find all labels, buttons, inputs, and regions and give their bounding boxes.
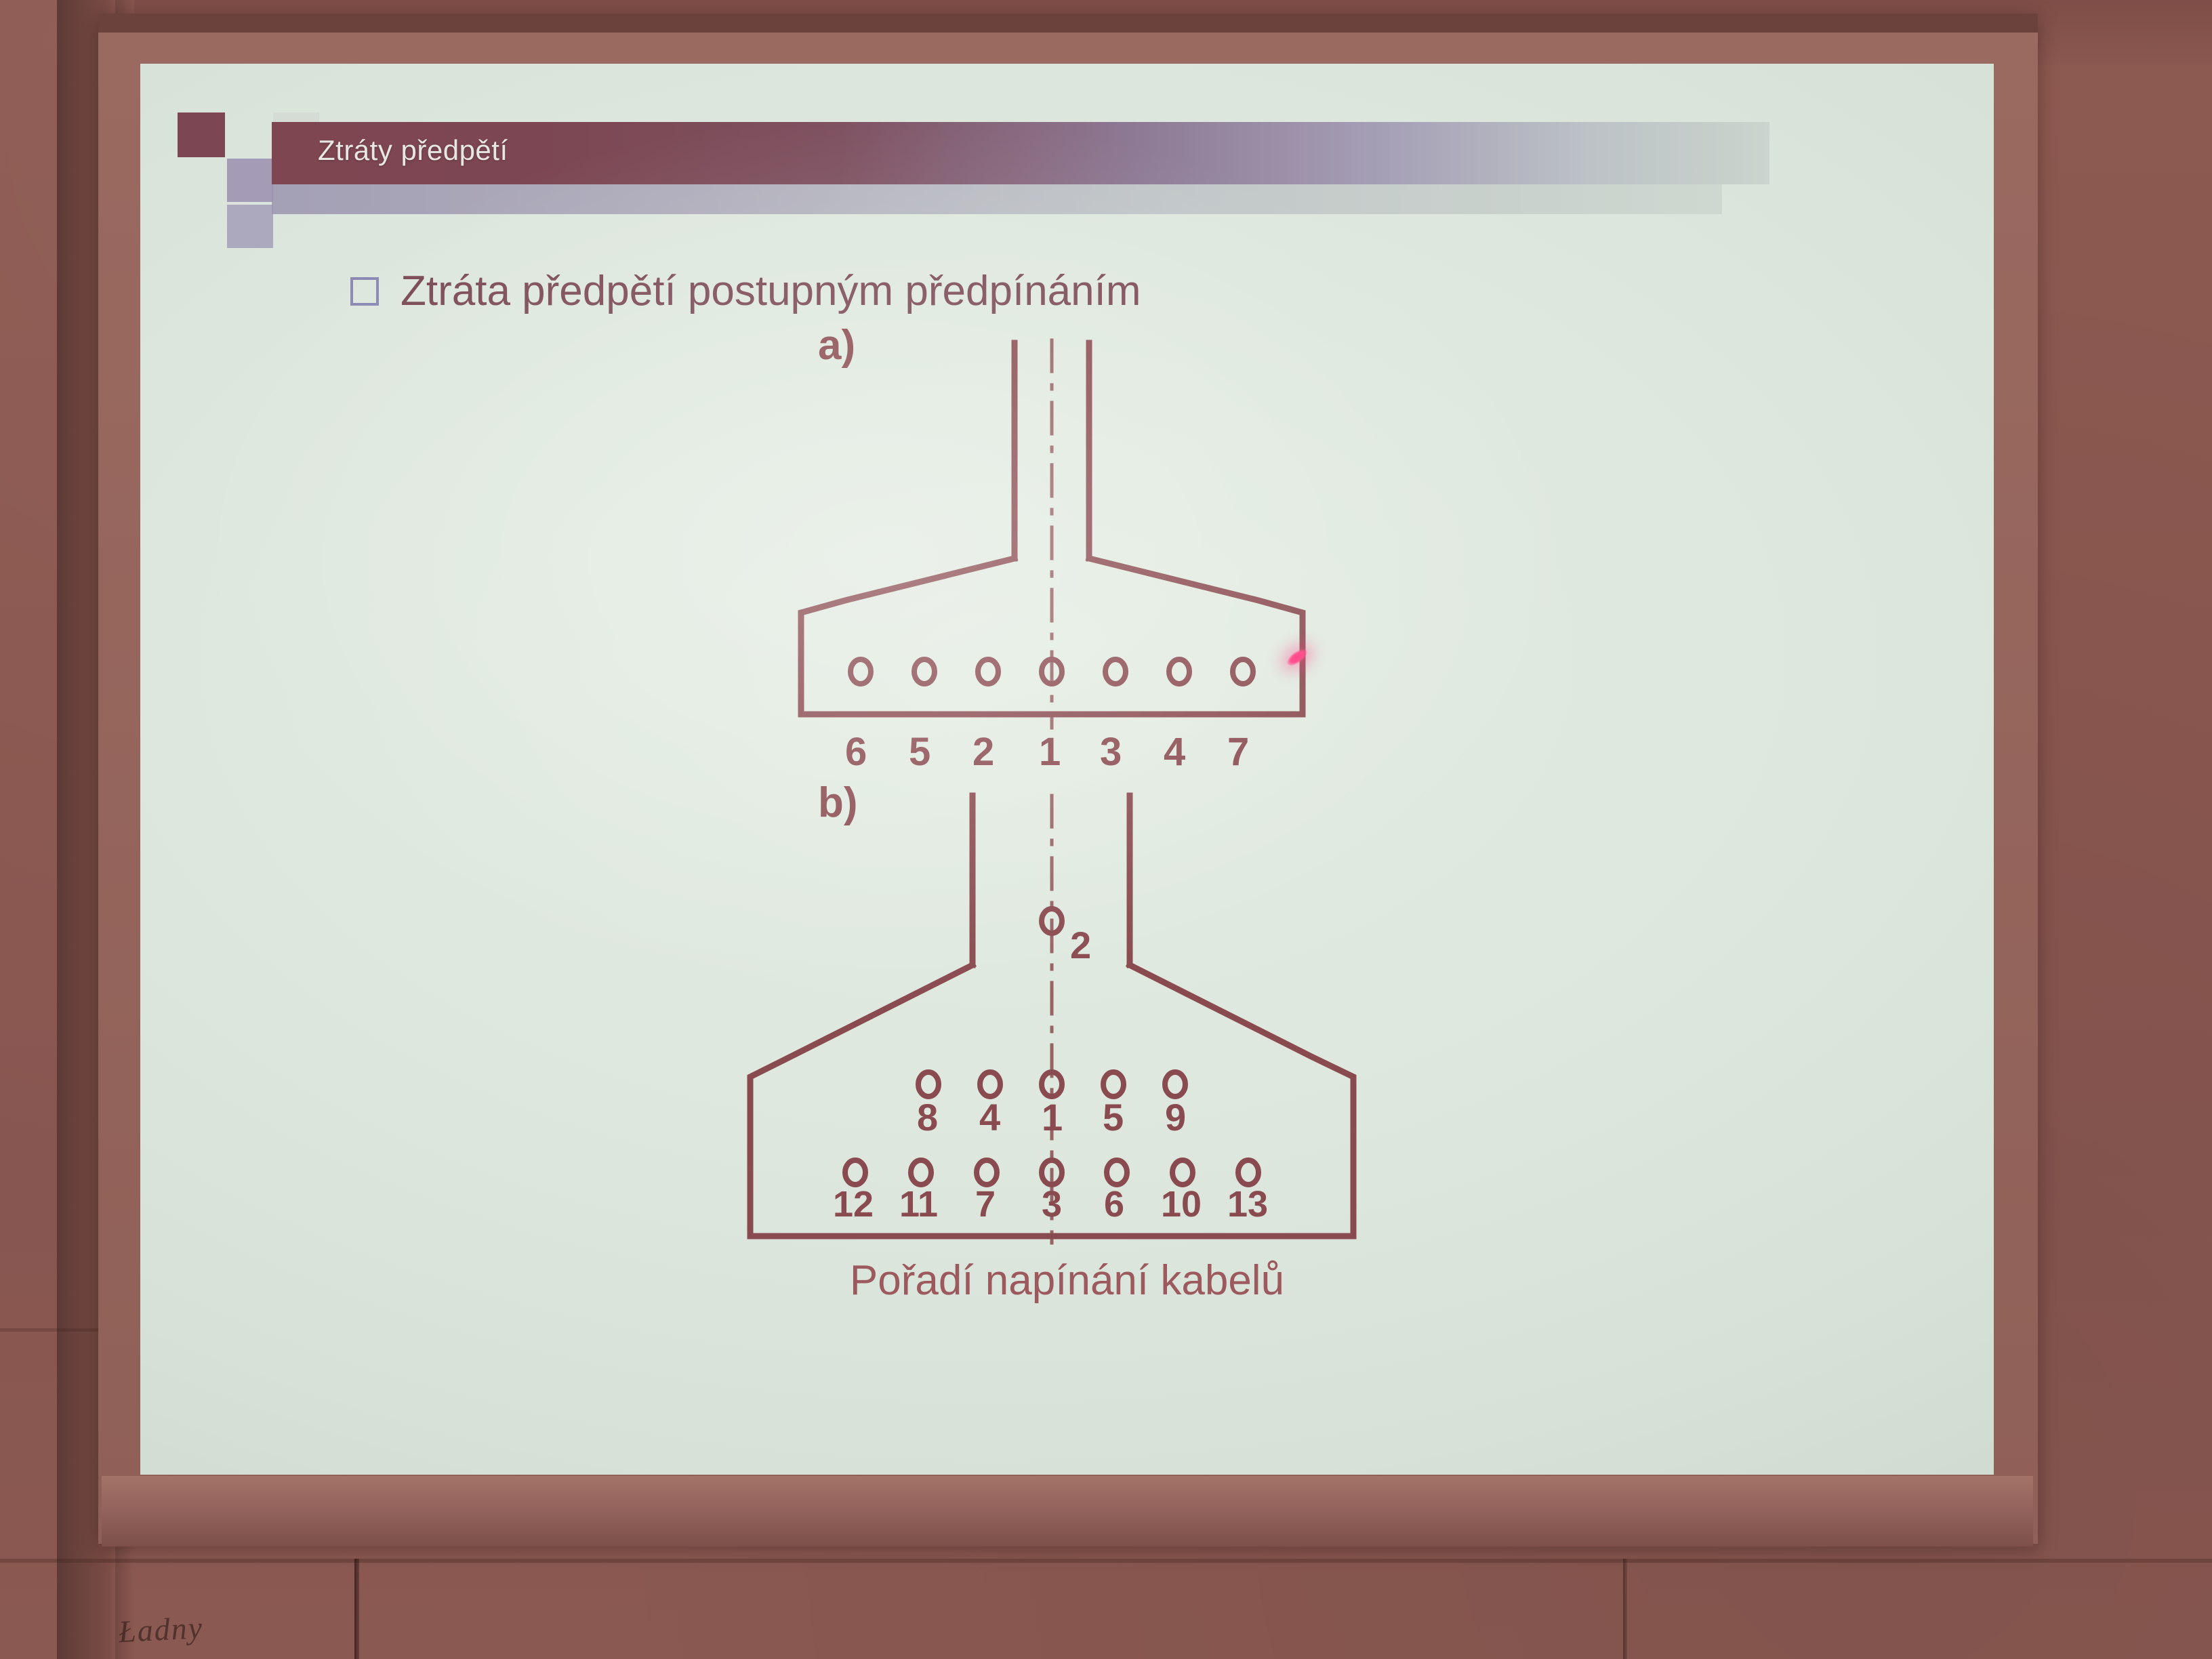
duct-label-a-3: 2 — [972, 729, 994, 775]
square-bullet-icon — [350, 277, 379, 306]
duct-label-a-5: 3 — [1100, 729, 1122, 775]
duct-label-a-2: 5 — [909, 729, 930, 775]
projection-screen-bottom-rail — [102, 1476, 2033, 1547]
figure-caption: Pořadí napínání kabelů — [140, 1256, 1994, 1305]
slide-header-title: Ztráty předpětí — [318, 134, 508, 167]
duct-label-b-mid-1: 8 — [917, 1095, 938, 1139]
bullet-row: Ztráta předpětí postupným předpínáním — [350, 267, 1141, 315]
duct-label-b-bot-4: 3 — [1042, 1183, 1062, 1225]
diagram-b-label: b) — [818, 779, 858, 827]
duct-label-b-bot-3: 7 — [975, 1183, 996, 1225]
duct-label-a-7: 7 — [1227, 729, 1249, 775]
duct-label-b-mid-4: 5 — [1103, 1095, 1124, 1139]
slide-header-bar-secondary — [272, 184, 1722, 214]
whiteboard-handwriting: Ładny — [118, 1610, 205, 1650]
duct-label-a-6: 4 — [1164, 729, 1185, 775]
duct-label-b-bot-7: 13 — [1227, 1183, 1268, 1225]
duct-label-b-mid-5: 9 — [1165, 1095, 1186, 1139]
duct-label-b-bot-6: 10 — [1161, 1183, 1202, 1225]
figure-cable-tensioning-order: a) 6 5 2 1 3 4 7 b) 2 8 4 1 5 9 12 11 7 … — [140, 335, 1994, 1433]
duct-label-b-mid-3: 1 — [1042, 1095, 1063, 1139]
projection-screen-top-rail — [98, 14, 2038, 33]
duct-label-b-mid-2: 4 — [979, 1095, 1000, 1139]
deco-square-lavender-1 — [227, 159, 273, 202]
duct-label-b-web-1: 2 — [1070, 923, 1091, 967]
room-background: Ładny Ztráty předpětí Ztráta předpětí po… — [0, 0, 2212, 1659]
duct-label-b-bot-1: 12 — [833, 1183, 874, 1225]
board-divider-right — [1623, 1559, 1627, 1659]
bullet-text: Ztráta předpětí postupným předpínáním — [401, 267, 1141, 315]
wall-seam-lower — [0, 1559, 2212, 1563]
diagram-a-label: a) — [818, 321, 855, 369]
deco-square-lavender-2 — [227, 205, 273, 248]
deco-square-dark — [178, 112, 225, 157]
duct-label-b-bot-2: 11 — [899, 1183, 938, 1225]
duct-label-a-1: 6 — [845, 729, 867, 775]
duct-label-b-bot-5: 6 — [1104, 1183, 1124, 1225]
duct-label-a-4: 1 — [1039, 729, 1061, 775]
slide: Ztráty předpětí Ztráta předpětí postupný… — [140, 64, 1994, 1475]
board-divider-left — [354, 1559, 359, 1659]
